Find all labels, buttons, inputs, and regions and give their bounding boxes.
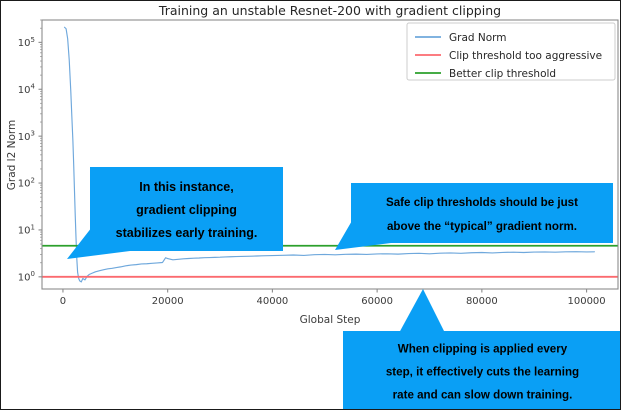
callout-line: Safe clip thresholds should be just	[386, 196, 578, 209]
x-tick-label: 100000	[567, 296, 605, 307]
y-tick-label: 100	[18, 270, 35, 283]
callout-tail	[399, 289, 445, 333]
legend-label: Clip threshold too aggressive	[449, 50, 602, 62]
chart-legend: Grad NormClip threshold too aggressiveBe…	[407, 23, 615, 80]
callout-line: step, it effectively cuts the learning	[386, 366, 579, 379]
x-axis-label: Global Step	[300, 314, 361, 326]
callout-line: When clipping is applied every	[398, 343, 568, 356]
y-tick-label: 104	[18, 83, 36, 96]
callout-line: In this instance,	[139, 180, 233, 194]
annotation-safe-thresholds: Safe clip thresholds should be justabove…	[335, 183, 613, 250]
callout-line: above the “typical” gradient norm.	[387, 220, 577, 233]
y-axis-label: Grad l2 Norm	[6, 120, 18, 190]
legend-label: Better clip threshold	[449, 68, 556, 80]
training-grad-norm-chart: Training an unstable Resnet-200 with gra…	[1, 1, 621, 410]
chart-screenshot: Training an unstable Resnet-200 with gra…	[0, 0, 621, 410]
chart-title: Training an unstable Resnet-200 with gra…	[158, 3, 501, 18]
annotation-slow-training: When clipping is applied everystep, it e…	[343, 289, 621, 410]
legend-label: Grad Norm	[449, 32, 507, 44]
y-tick-label: 105	[18, 36, 35, 49]
annotation-early-training: In this instance,gradient clippingstabil…	[67, 167, 283, 259]
y-tick-label: 102	[18, 176, 35, 189]
x-tick-label: 0	[60, 296, 66, 307]
callout-line: rate and can slow down training.	[393, 389, 573, 402]
y-axis-ticks: 100101102103104105	[18, 20, 42, 283]
x-tick-label: 60000	[361, 296, 393, 307]
x-tick-label: 80000	[466, 296, 498, 307]
callout-line: stabilizes early training.	[116, 226, 258, 240]
y-tick-label: 101	[18, 223, 35, 236]
callout-line: gradient clipping	[136, 203, 237, 217]
x-axis-ticks: 020000400006000080000100000	[60, 289, 606, 307]
x-tick-label: 40000	[256, 296, 288, 307]
callout-box	[351, 183, 613, 243]
x-tick-label: 20000	[152, 296, 184, 307]
y-tick-label: 103	[18, 130, 35, 143]
